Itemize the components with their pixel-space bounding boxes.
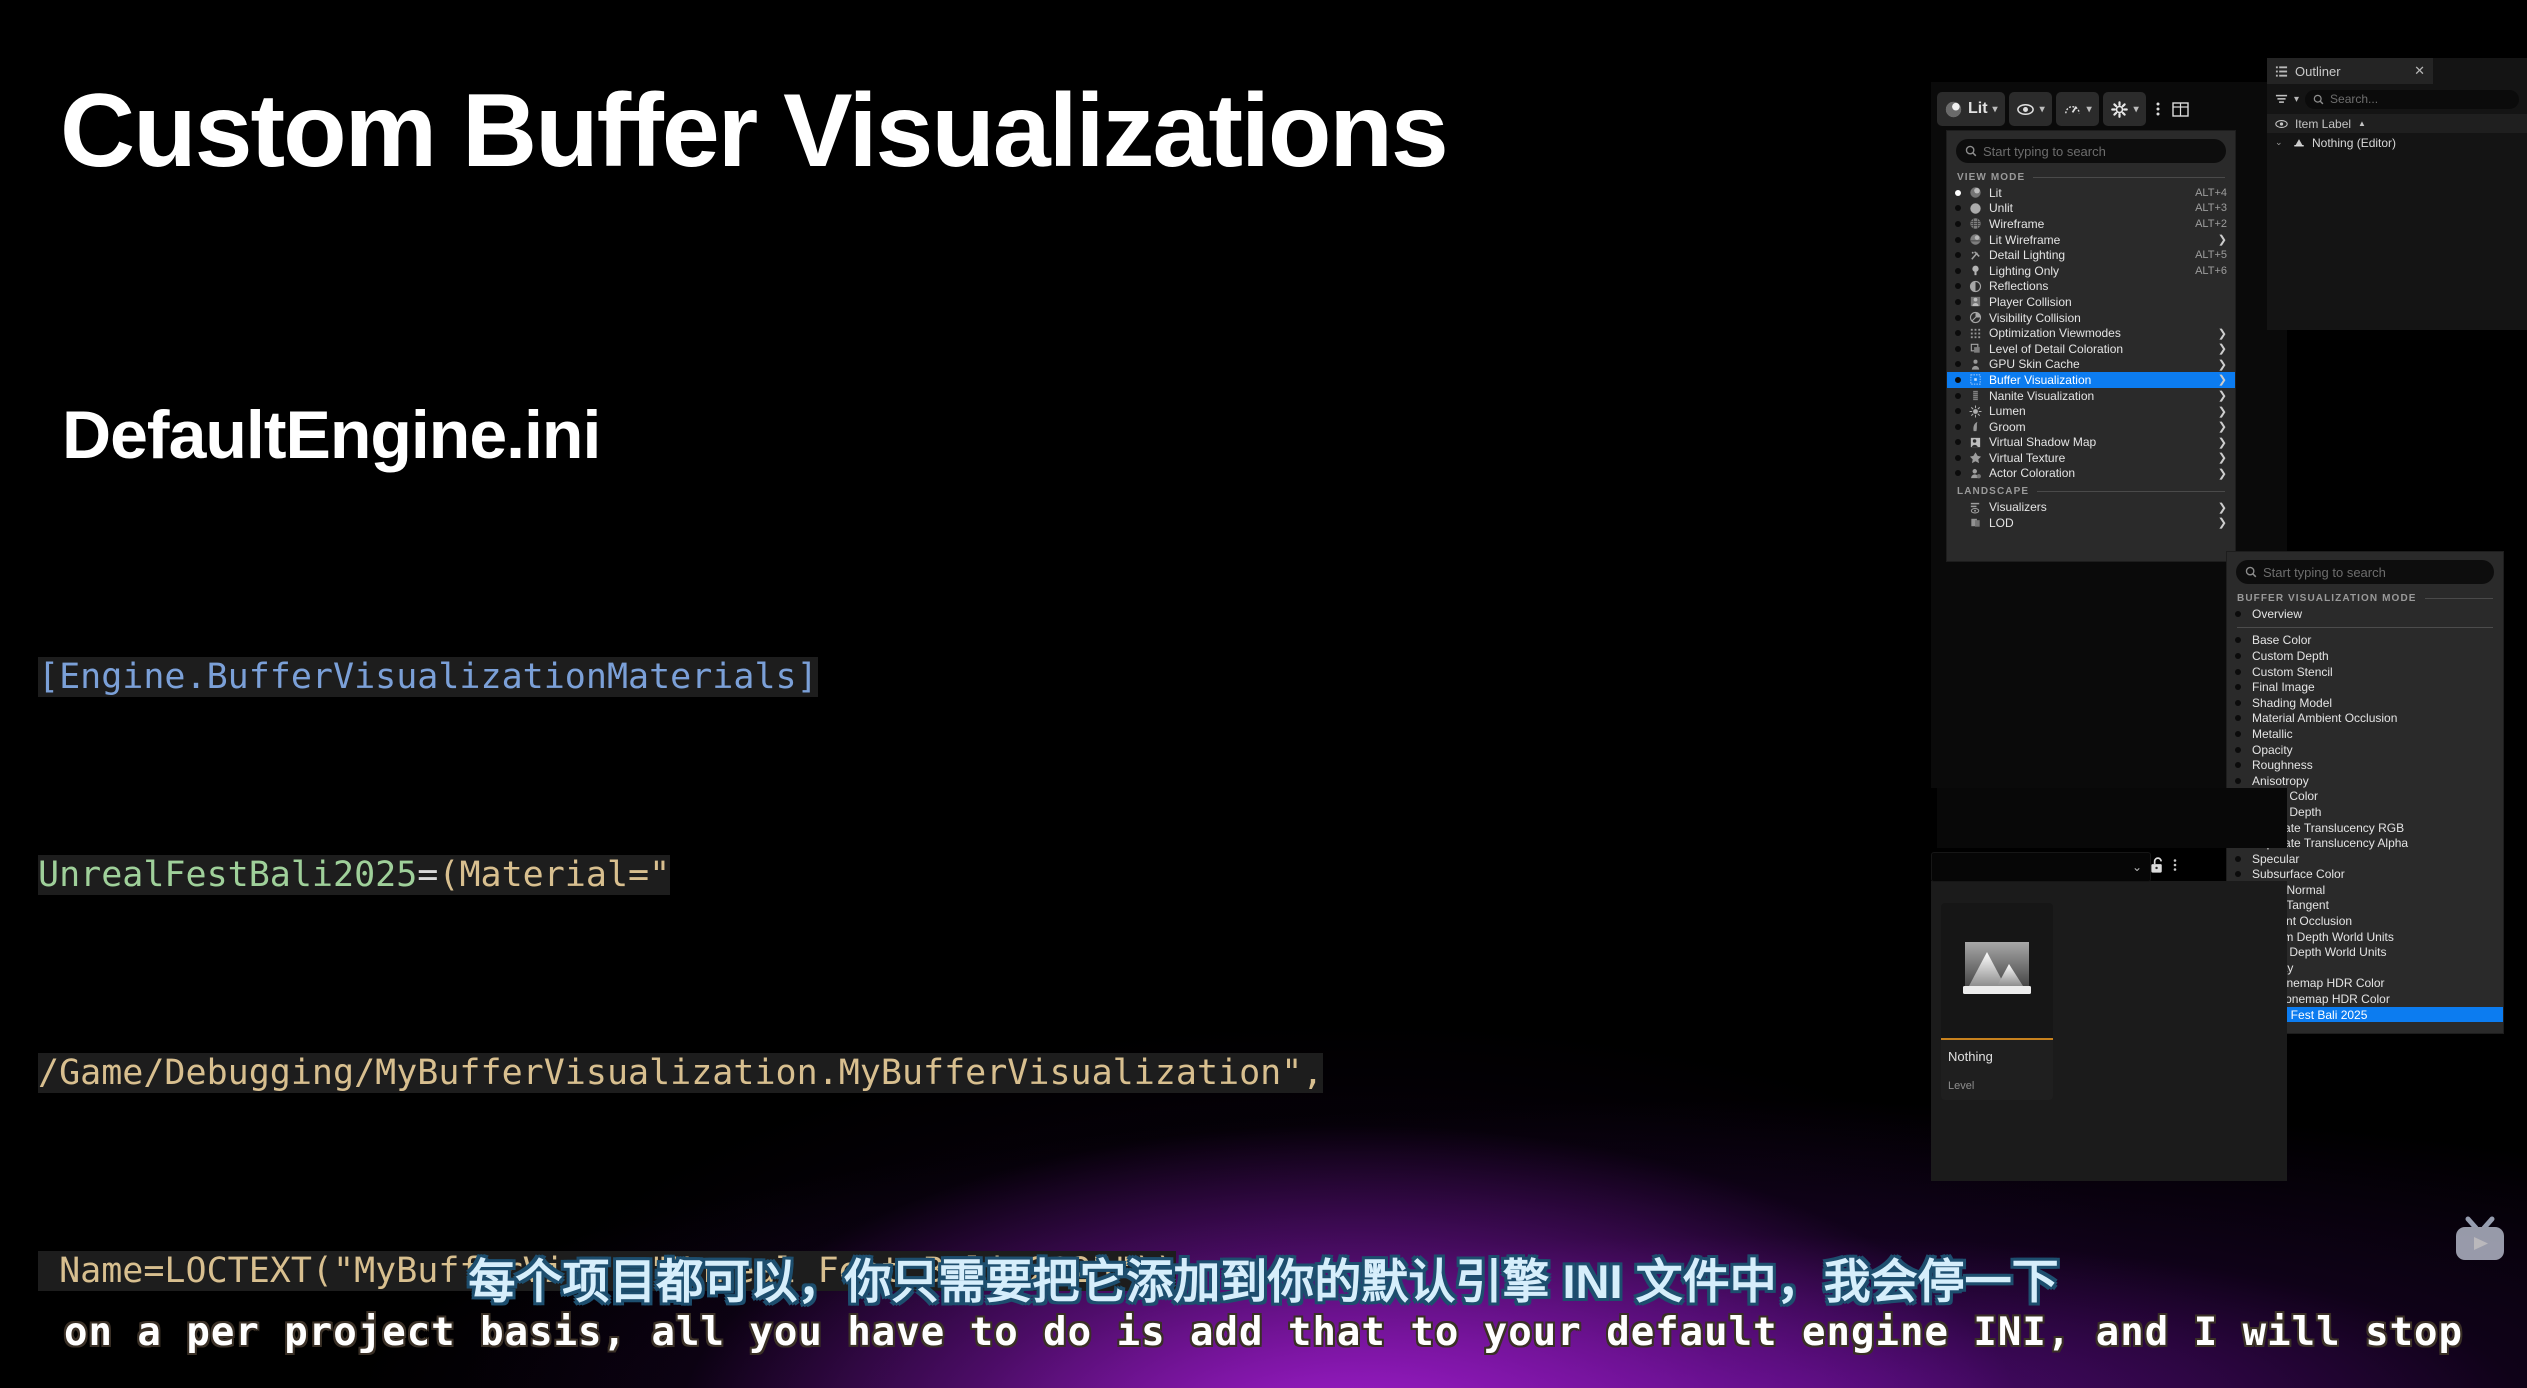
outliner-tab-title: Outliner [2295, 64, 2407, 79]
buffer-item-metallic[interactable]: Metallic [2227, 726, 2503, 742]
outliner-tab[interactable]: Outliner ✕ [2267, 58, 2433, 84]
code-line-2: UnrealFestBali2025=(Material=" [38, 842, 1323, 908]
chevron-right-icon: ❯ [2218, 501, 2227, 514]
nanite-icon [1969, 389, 1982, 402]
viewmode-item-label: Groom [1989, 420, 2212, 434]
buffer-item-label: Specular [2252, 852, 2299, 866]
radio-indicator [1955, 455, 1961, 461]
viewmode-section-header: VIEW MODE [1947, 167, 2235, 185]
level-thumbnail-icon [1961, 940, 2033, 1002]
viewmode-search-placeholder: Start typing to search [1983, 144, 2106, 159]
chevron-right-icon: ❯ [2218, 436, 2227, 449]
chevron-right-icon: ❯ [2218, 373, 2227, 386]
buffer-item-label: Shading Model [2252, 696, 2332, 710]
viewmode-item-optimization-viewmodes[interactable]: Optimization Viewmodes❯ [1947, 325, 2235, 341]
buffer-item-custom-stencil[interactable]: Custom Stencil [2227, 664, 2503, 680]
visualizers-icon [1969, 501, 1982, 514]
radio-indicator [2235, 700, 2241, 706]
viewport-toolbar: Lit ▾ ▾ ▾ ▾ [1937, 88, 2287, 130]
content-browser-strip [1937, 788, 2287, 848]
radio-indicator [2235, 856, 2241, 862]
viewmode-item-label: Buffer Visualization [1989, 373, 2212, 387]
radio-indicator [2235, 747, 2241, 753]
asset-type: Level [1941, 1064, 2053, 1092]
chevron-right-icon: ❯ [2218, 467, 2227, 480]
divider [2425, 598, 2493, 599]
radio-indicator [1955, 283, 1961, 289]
radio-indicator [1955, 361, 1961, 367]
viewmode-item-label: Lumen [1989, 404, 2212, 418]
viewmode-item-nanite-visualization[interactable]: Nanite Visualization❯ [1947, 388, 2235, 404]
chevron-down-icon: ▾ [2040, 104, 2045, 115]
radio-indicator [1955, 315, 1961, 321]
code-line-1: [Engine.BufferVisualizationMaterials] [38, 644, 1323, 710]
radio-indicator [2235, 715, 2241, 721]
buffer-item-subsurface-color[interactable]: Subsurface Color [2227, 867, 2503, 883]
viewmode-item-reflections[interactable]: Reflections [1947, 279, 2235, 295]
outliner-row-label: Nothing (Editor) [2312, 136, 2396, 150]
viewmode-item-label: Lit [1989, 186, 2195, 200]
bilibili-tv-icon [2450, 1215, 2510, 1267]
viewmode-item-label: Actor Coloration [1989, 466, 2212, 480]
buffer-item-opacity[interactable]: Opacity [2227, 742, 2503, 758]
viewmode-item-shortcut: ALT+3 [2195, 202, 2227, 214]
more-options-button[interactable] [2150, 101, 2166, 117]
viewmode-item-label: Detail Lighting [1989, 248, 2195, 262]
performance-button[interactable]: ▾ [2056, 92, 2099, 126]
viewmode-item-virtual-shadow-map[interactable]: Virtual Shadow Map❯ [1947, 435, 2235, 451]
chevron-down-icon: ▾ [2134, 104, 2139, 115]
outliner-search-input[interactable]: Search... [2305, 90, 2519, 109]
buffer-item-label: Metallic [2252, 727, 2293, 741]
viewmode-item-player-collision[interactable]: Player Collision [1947, 294, 2235, 310]
radio-indicator [1955, 330, 1961, 336]
viewmode-item-label: Lighting Only [1989, 264, 2195, 278]
unlock-icon [2149, 856, 2166, 875]
buffer-item-label: Roughness [2252, 758, 2313, 772]
buffer-item-label: Material Ambient Occlusion [2252, 711, 2397, 725]
expand-arrow-icon[interactable]: ⌄ [2275, 137, 2286, 148]
viewmode-item-shortcut: ALT+6 [2195, 265, 2227, 277]
viewmode-item-actor-coloration[interactable]: Actor Coloration❯ [1947, 466, 2235, 482]
content-browser-path-dropdown[interactable]: ⌄ [1931, 852, 2151, 882]
chevron-right-icon: ❯ [2218, 516, 2227, 529]
viewmode-item-label: Lit Wireframe [1989, 233, 2212, 247]
kebab-menu-icon [2173, 858, 2177, 872]
content-more-button[interactable] [2173, 858, 2177, 877]
radio-indicator [2235, 637, 2241, 643]
viewmode-item-list: LitALT+4UnlitALT+3WireframeALT+2Lit Wire… [1947, 185, 2235, 481]
chevron-right-icon: ❯ [2218, 405, 2227, 418]
search-icon [2245, 566, 2257, 578]
section-heading-defaultengine-ini: DefaultEngine.ini [62, 396, 600, 474]
buffer-visualization-icon [1969, 373, 1982, 386]
eye-icon [2275, 119, 2288, 129]
radio-indicator [2235, 731, 2241, 737]
chevron-right-icon: ❯ [2218, 420, 2227, 433]
buffer-item-custom-depth[interactable]: Custom Depth [2227, 648, 2503, 664]
search-icon [2313, 94, 2324, 105]
sort-ascending-icon: ▲ [2358, 119, 2366, 128]
viewmode-dropdown-button[interactable]: Lit ▾ [1937, 92, 2005, 126]
divider [2033, 177, 2225, 178]
wireframe-icon [1969, 217, 1982, 230]
virtual-texture-icon [1969, 451, 1982, 464]
reflections-icon [1969, 280, 1982, 293]
detail-lighting-icon [1969, 249, 1982, 262]
player-collision-icon [1969, 295, 1982, 308]
viewmode-item-shortcut: ALT+4 [2195, 187, 2227, 199]
radio-indicator [2235, 611, 2241, 617]
viewmode-item-label: Virtual Shadow Map [1989, 435, 2212, 449]
viewmode-item-virtual-texture[interactable]: Virtual Texture❯ [1947, 450, 2235, 466]
radio-indicator [1955, 299, 1961, 305]
radio-indicator [1955, 346, 1961, 352]
outliner-column-label: Item Label [2295, 117, 2351, 131]
speedometer-icon [2063, 100, 2082, 119]
buffer-search-placeholder: Start typing to search [2263, 565, 2386, 580]
radio-indicator [1955, 504, 1961, 510]
buffer-item-roughness[interactable]: Roughness [2227, 757, 2503, 773]
radio-indicator [1955, 221, 1961, 227]
buffer-item-label: Final Image [2252, 680, 2315, 694]
lod-coloration-icon [1969, 342, 1982, 355]
buffer-item-label: Subsurface Color [2252, 867, 2345, 881]
code-snippet: [Engine.BufferVisualizationMaterials] Un… [38, 512, 1323, 1370]
kebab-menu-icon [2156, 101, 2160, 117]
radio-indicator [1955, 205, 1961, 211]
lit-sphere-icon [1969, 186, 1982, 199]
chevron-down-icon: ▾ [2087, 104, 2092, 115]
gear-icon [2110, 100, 2129, 119]
divider [2237, 627, 2493, 628]
content-browser-asset-tile[interactable]: Nothing Level [1941, 903, 2053, 1100]
radio-indicator [1955, 393, 1961, 399]
radio-indicator [1955, 470, 1961, 476]
filter-icon[interactable] [2275, 93, 2288, 105]
gpu-skin-cache-icon [1969, 358, 1982, 371]
outliner-column-header[interactable]: Item Label ▲ [2267, 114, 2527, 133]
chevron-right-icon: ❯ [2218, 233, 2227, 246]
unreal-editor-window: Lit ▾ ▾ ▾ ▾ Start typing to search VIEW … [1937, 88, 2527, 1236]
viewmode-item-label: Wireframe [1989, 217, 2195, 231]
asset-name: Nothing [1941, 1040, 2053, 1064]
buffer-item-material-ambient-occlusion[interactable]: Material Ambient Occlusion [2227, 711, 2503, 727]
viewmode-search-input[interactable]: Start typing to search [1956, 139, 2226, 163]
viewmode-item-detail-lighting[interactable]: Detail LightingALT+5 [1947, 247, 2235, 263]
buffer-item-final-image[interactable]: Final Image [2227, 679, 2503, 695]
page-title: Custom Buffer Visualizations [60, 72, 1447, 191]
landscape-item-list: Visualizers❯LOD❯ [1947, 499, 2235, 530]
buffer-item-shading-model[interactable]: Shading Model [2227, 695, 2503, 711]
viewmode-item-shortcut: ALT+2 [2195, 218, 2227, 230]
search-icon [1965, 145, 1977, 157]
outliner-search-placeholder: Search... [2330, 92, 2378, 106]
viewmode-item-shortcut: ALT+5 [2195, 249, 2227, 261]
chevron-down-icon: ▾ [1993, 104, 1998, 115]
buffer-section-header: BUFFER VISUALIZATION MODE [2227, 588, 2503, 606]
radio-indicator [2235, 653, 2241, 659]
lit-wireframe-icon [1969, 233, 1982, 246]
buffer-item-label: Anisotropy [2252, 774, 2309, 788]
outliner-icon [2275, 65, 2288, 78]
optimization-icon [1969, 327, 1982, 340]
visibility-collision-icon [1969, 311, 1982, 324]
viewmode-dropdown-menu: Start typing to search VIEW MODE LitALT+… [1946, 130, 2236, 562]
viewmode-item-lumen[interactable]: Lumen❯ [1947, 403, 2235, 419]
buffer-search-input[interactable]: Start typing to search [2236, 560, 2494, 584]
outliner-panel: Outliner ✕ ▾ Search... Item Label ▲ ⌄ No… [2267, 58, 2527, 330]
subtitle-english: on a per project basis, all you have to … [0, 1310, 2527, 1355]
chevron-right-icon: ❯ [2218, 389, 2227, 402]
viewmode-item-lit-wireframe[interactable]: Lit Wireframe❯ [1947, 232, 2235, 248]
chevron-right-icon: ❯ [2218, 358, 2227, 371]
buffer-item-label: Custom Depth [2252, 649, 2329, 663]
viewmode-item-label: Nanite Visualization [1989, 389, 2212, 403]
viewmode-item-lighting-only[interactable]: Lighting OnlyALT+6 [1947, 263, 2235, 279]
landscape-item-lod[interactable]: LOD❯ [1947, 515, 2235, 531]
outliner-search-row: ▾ Search... [2267, 84, 2527, 114]
radio-indicator [1955, 377, 1961, 383]
chevron-right-icon: ❯ [2218, 342, 2227, 355]
buffer-item-label: Base Color [2252, 633, 2311, 647]
radio-indicator [1955, 520, 1961, 526]
viewmode-label: Lit [1968, 100, 1988, 118]
chevron-down-icon[interactable]: ▾ [2294, 94, 2299, 105]
show-flags-button[interactable]: ▾ [2009, 92, 2052, 126]
content-lock-button[interactable] [2149, 856, 2166, 880]
watermark [2450, 1215, 2510, 1267]
viewmode-item-label: Visibility Collision [1989, 311, 2227, 325]
divider [2037, 491, 2225, 492]
landscape-item-visualizers[interactable]: Visualizers❯ [1947, 499, 2235, 515]
buffer-item-label: Custom Stencil [2252, 665, 2333, 679]
radio-indicator [1955, 408, 1961, 414]
viewmode-item-visibility-collision[interactable]: Visibility Collision [1947, 310, 2235, 326]
groom-icon [1969, 420, 1982, 433]
grid-layout-icon [2172, 102, 2189, 117]
virtual-shadow-map-icon [1969, 436, 1982, 449]
landscape-item-label: LOD [1989, 516, 2212, 530]
viewmode-item-label: Unlit [1989, 201, 2195, 215]
chevron-right-icon: ❯ [2218, 451, 2227, 464]
landscape-item-label: Visualizers [1989, 500, 2212, 514]
radio-indicator [1955, 439, 1961, 445]
lightbulb-icon [1969, 264, 1982, 277]
asset-thumbnail [1941, 903, 2053, 1038]
radio-indicator [2235, 778, 2241, 784]
radio-indicator [2235, 871, 2241, 877]
viewport-settings-button[interactable]: ▾ [2103, 92, 2146, 126]
level-icon [2293, 137, 2305, 148]
viewmode-item-label: Player Collision [1989, 295, 2227, 309]
outliner-row[interactable]: ⌄ Nothing (Editor) [2267, 133, 2527, 152]
buffer-item-label: Opacity [2252, 743, 2293, 757]
close-icon[interactable]: ✕ [2414, 63, 2425, 79]
unlit-sphere-icon [1969, 202, 1982, 215]
viewmode-item-label: GPU Skin Cache [1989, 357, 2212, 371]
radio-indicator [1955, 252, 1961, 258]
viewmode-item-level-of-detail-coloration[interactable]: Level of Detail Coloration❯ [1947, 341, 2235, 357]
lod-icon [1969, 516, 1982, 529]
radio-indicator [1955, 268, 1961, 274]
viewmode-item-gpu-skin-cache[interactable]: GPU Skin Cache❯ [1947, 357, 2235, 373]
radio-indicator [2235, 684, 2241, 690]
eye-icon [2016, 100, 2035, 119]
layout-button[interactable] [2170, 102, 2192, 117]
lit-sphere-icon [1944, 100, 1963, 119]
viewmode-item-buffer-visualization[interactable]: Buffer Visualization❯ [1947, 372, 2235, 388]
viewmode-item-unlit[interactable]: UnlitALT+3 [1947, 201, 2235, 217]
actor-coloration-icon [1969, 467, 1982, 480]
subtitle-chinese: 每个项目都可以，你只需要把它添加到你的默认引擎 INI 文件中，我会停一下 [0, 1243, 2527, 1312]
viewmode-item-label: Reflections [1989, 279, 2227, 293]
radio-indicator [2235, 669, 2241, 675]
viewmode-item-groom[interactable]: Groom❯ [1947, 419, 2235, 435]
radio-indicator [2235, 762, 2241, 768]
radio-indicator [1955, 237, 1961, 243]
viewmode-item-label: Level of Detail Coloration [1989, 342, 2212, 356]
code-line-3: /Game/Debugging/MyBufferVisualization.My… [38, 1040, 1323, 1106]
viewmode-item-lit[interactable]: LitALT+4 [1947, 185, 2235, 201]
viewmode-item-label: Optimization Viewmodes [1989, 326, 2212, 340]
radio-indicator [1955, 424, 1961, 430]
landscape-section-header: LANDSCAPE [1947, 481, 2235, 499]
chevron-right-icon: ❯ [2218, 327, 2227, 340]
viewmode-item-label: Virtual Texture [1989, 451, 2212, 465]
viewmode-item-wireframe[interactable]: WireframeALT+2 [1947, 216, 2235, 232]
chevron-down-icon: ⌄ [2132, 860, 2142, 874]
lumen-icon [1969, 405, 1982, 418]
buffer-item-specular[interactable]: Specular [2227, 851, 2503, 867]
radio-indicator [1955, 190, 1961, 196]
buffer-item-base-color[interactable]: Base Color [2227, 633, 2503, 649]
buffer-item-overview[interactable]: Overview [2227, 606, 2503, 622]
buffer-item-anisotropy[interactable]: Anisotropy [2227, 773, 2503, 789]
